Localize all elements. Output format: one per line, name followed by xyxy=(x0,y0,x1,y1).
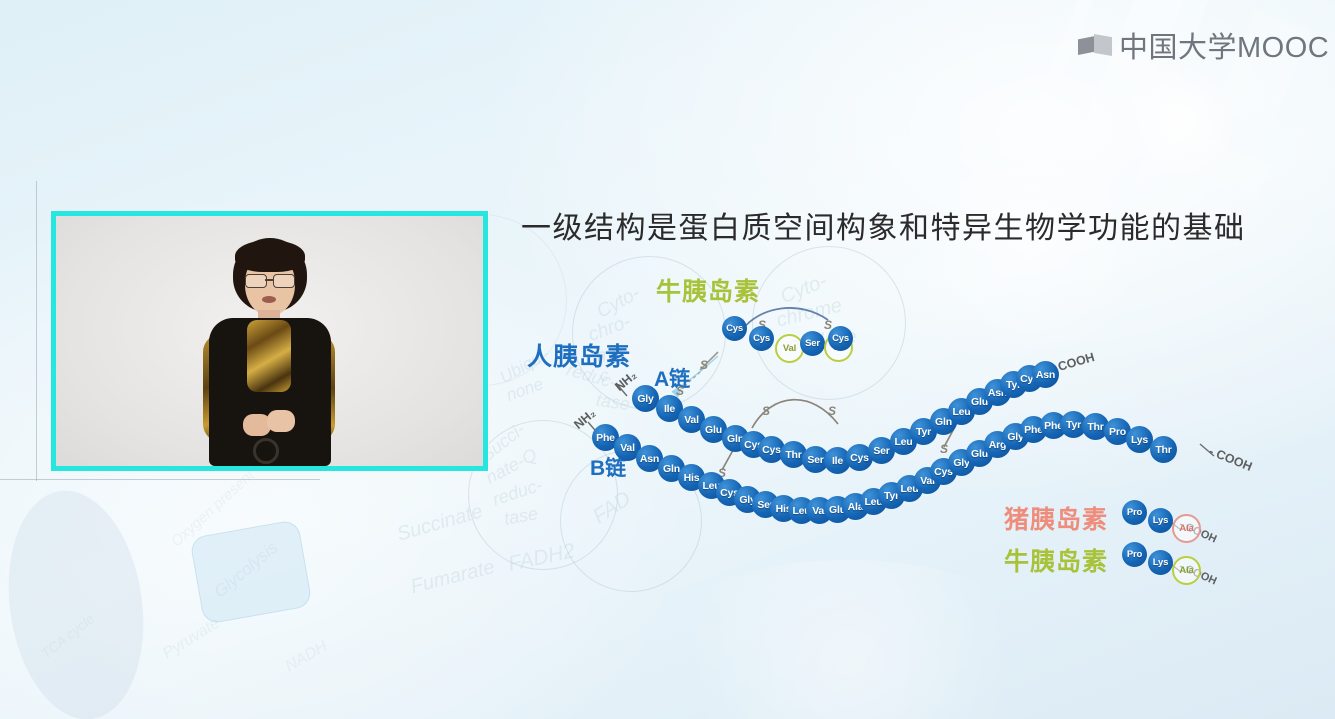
guide-line-vertical xyxy=(36,181,37,481)
amino-acid-bead: Ser xyxy=(800,331,825,356)
amino-acid-bead: Asn xyxy=(1032,361,1059,388)
video-stage xyxy=(56,216,483,466)
presentation-slide: Cyto- chro- me c reduc- tase Cyto- chrom… xyxy=(0,0,1335,719)
label-bovine-insulin-top: 牛胰岛素 xyxy=(656,272,760,308)
guide-line-horizontal xyxy=(0,479,320,480)
book-pages-icon xyxy=(1078,32,1112,58)
page-title: 一级结构是蛋白质空间构象和特异生物学功能的基础 xyxy=(521,203,1246,247)
label-chain-a: A链 xyxy=(654,363,690,393)
amino-acid-bead: Lys xyxy=(1126,426,1153,453)
amino-acid-bead: Cys xyxy=(722,316,747,341)
terminal-cooh-chain-b: - COOH xyxy=(1207,444,1254,474)
sulfur-label: S xyxy=(762,404,770,418)
mooc-logo: 中国大学MOOC xyxy=(1078,24,1329,66)
label-porcine-insulin: 猪胰岛素 xyxy=(1004,500,1108,536)
amino-acid-bead: Cys xyxy=(749,326,774,351)
presenter-figure xyxy=(195,238,345,466)
amino-acid-bead: Ala xyxy=(1172,514,1201,543)
presenter-video-inset[interactable] xyxy=(51,211,488,471)
amino-acid-bead: Pro xyxy=(1122,542,1147,567)
amino-acid-bead: Val xyxy=(775,334,804,363)
amino-acid-bead: Thr xyxy=(1150,436,1177,463)
label-human-insulin: 人胰岛素 xyxy=(527,337,631,373)
sulfur-label: S xyxy=(700,358,708,372)
amino-acid-bead: Cys xyxy=(828,326,853,351)
logo-text: 中国大学MOOC xyxy=(1119,24,1329,66)
sulfur-label: S xyxy=(828,404,836,418)
glasses-icon xyxy=(245,274,267,288)
amino-acid-bead: Lys xyxy=(1148,550,1173,575)
label-bovine-insulin-bottom: 牛胰岛素 xyxy=(1004,542,1108,578)
sulfur-label: S xyxy=(676,384,684,398)
amino-acid-bead: Gly xyxy=(632,385,659,412)
amino-acid-bead: Pro xyxy=(1122,500,1147,525)
sulfur-label: S xyxy=(940,442,948,456)
amino-acid-bead: Lys xyxy=(1148,508,1173,533)
amino-acid-bead: Ala xyxy=(1172,556,1201,585)
